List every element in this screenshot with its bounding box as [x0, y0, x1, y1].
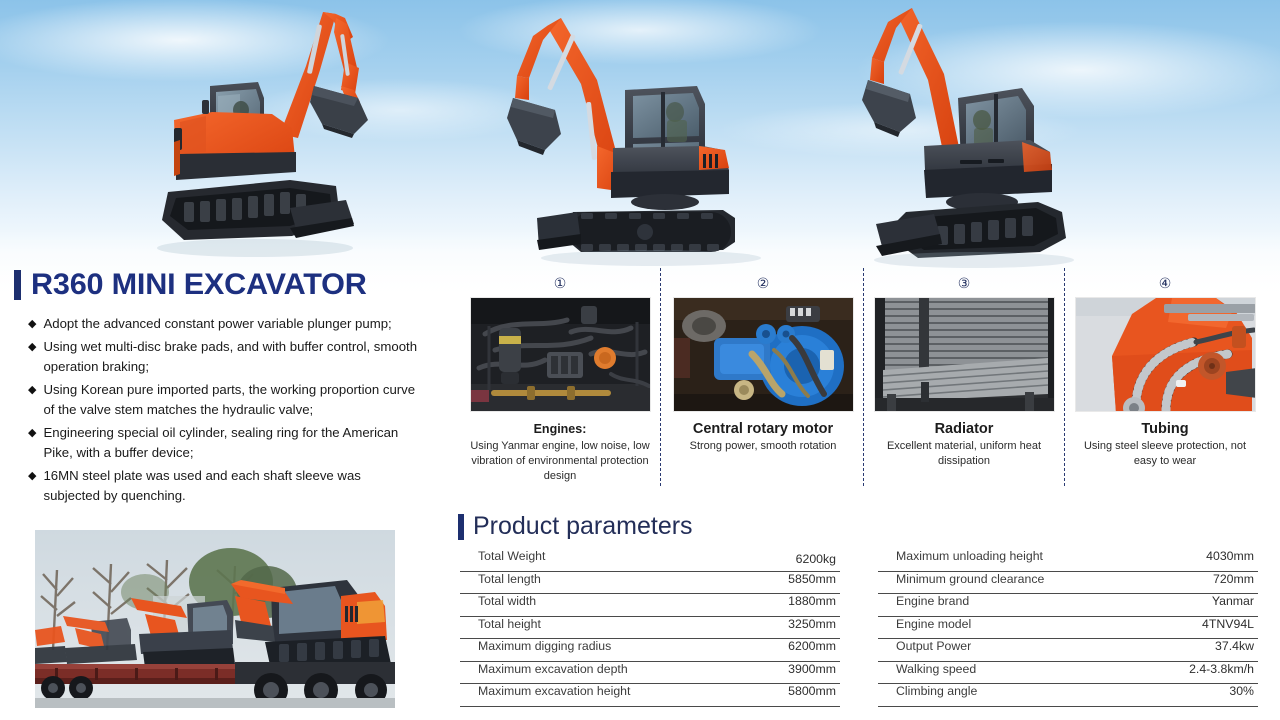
table-row: Total Weight 6200kg: [460, 549, 840, 572]
param-label: Minimum ground clearance: [896, 572, 1044, 586]
engine-closeup-photo: [470, 297, 651, 412]
param-label: Total Weight: [478, 549, 545, 563]
card-title: Radiator: [866, 421, 1062, 437]
excavator-hero-left: [140, 2, 400, 264]
list-item: ◆ Adopt the advanced constant power vari…: [28, 314, 420, 335]
param-value: 5800mm: [788, 684, 836, 698]
component-card-tubing: ④: [1067, 276, 1263, 506]
card-description: Strong power, smooth rotation: [665, 439, 861, 454]
param-label: Total width: [478, 594, 536, 608]
table-row: Maximum unloading height 4030mm: [878, 549, 1258, 572]
list-item: ◆ 16MN steel plate was used and each sha…: [28, 466, 420, 507]
feature-text: Using Korean pure imported parts, the wo…: [43, 380, 420, 421]
param-value: 720mm: [1213, 572, 1254, 586]
param-value: 30%: [1229, 684, 1254, 698]
table-row: Total length 5850mm: [460, 572, 840, 595]
left-column: R360 MINI EXCAVATOR ◆ Adopt the advanced…: [0, 268, 445, 509]
params-accent-bar: [458, 514, 464, 540]
table-row: Maximum digging radius 6200mm: [460, 639, 840, 662]
param-value: 2.4-3.8km/h: [1189, 662, 1254, 676]
component-card-engines: ①: [462, 276, 658, 506]
feature-text: 16MN steel plate was used and each shaft…: [43, 466, 420, 507]
param-label: Walking speed: [896, 662, 976, 676]
card-description: Excellent material, uniform heat dissipa…: [866, 439, 1062, 469]
table-row: Output Power 37.4kw: [878, 639, 1258, 662]
param-value: 1880mm: [788, 594, 836, 608]
table-row: Engine model 4TNV94L: [878, 617, 1258, 640]
param-value: 6200kg: [796, 552, 836, 566]
parameters-table-right: Maximum unloading height 4030mm Minimum …: [878, 549, 1258, 707]
excavator-hero-center: [485, 6, 785, 268]
radiator-photo: [874, 297, 1055, 412]
page-title: R360 MINI EXCAVATOR: [31, 268, 367, 302]
param-value: 4030mm: [1206, 549, 1254, 563]
table-row: Walking speed 2.4-3.8km/h: [878, 662, 1258, 685]
param-label: Maximum excavation depth: [478, 662, 628, 676]
diamond-bullet-icon: ◆: [28, 337, 36, 358]
card-number-badge: ②: [665, 276, 861, 294]
card-divider-3: [1064, 268, 1065, 486]
table-row: Climbing angle 30%: [878, 684, 1258, 707]
card-number-badge: ③: [866, 276, 1062, 294]
excavators-loaded-on-flatbed-truck: [35, 530, 395, 708]
param-value: 4TNV94L: [1202, 617, 1254, 631]
param-label: Maximum unloading height: [896, 549, 1043, 563]
excavator-hero-right: [862, 2, 1112, 268]
table-row: Total width 1880mm: [460, 594, 840, 617]
product-title-row: R360 MINI EXCAVATOR: [0, 268, 445, 302]
list-item: ◆ Engineering special oil cylinder, seal…: [28, 423, 420, 464]
component-card-radiator: ③: [866, 276, 1062, 506]
parameters-table-left: Total Weight 6200kg Total length 5850mm …: [460, 549, 840, 707]
hydraulic-tubing-photo: [1075, 297, 1256, 412]
card-description: Using steel sleeve protection, not easy …: [1067, 439, 1263, 469]
product-parameters-heading-row: Product parameters: [458, 512, 693, 541]
param-label: Engine model: [896, 617, 971, 631]
feature-text: Engineering special oil cylinder, sealin…: [43, 423, 420, 464]
feature-text: Adopt the advanced constant power variab…: [43, 314, 420, 335]
feature-bullet-list: ◆ Adopt the advanced constant power vari…: [0, 314, 420, 507]
card-title: Tubing: [1067, 421, 1263, 437]
card-description: Using Yanmar engine, low noise, low vibr…: [462, 439, 658, 484]
diamond-bullet-icon: ◆: [28, 314, 36, 335]
card-number-badge: ①: [462, 276, 658, 294]
param-label: Engine brand: [896, 594, 969, 608]
param-value: 37.4kw: [1215, 639, 1254, 653]
component-card-central-rotary-motor: ②: [665, 276, 861, 506]
list-item: ◆ Using Korean pure imported parts, the …: [28, 380, 420, 421]
param-value: 6200mm: [788, 639, 836, 653]
card-number-badge: ④: [1067, 276, 1263, 294]
diamond-bullet-icon: ◆: [28, 466, 36, 487]
param-label: Total height: [478, 617, 541, 631]
component-feature-cards: ①: [460, 276, 1270, 506]
card-divider-1: [660, 268, 661, 486]
table-row: Minimum ground clearance 720mm: [878, 572, 1258, 595]
param-label: Total length: [478, 572, 541, 586]
table-row: Maximum excavation depth 3900mm: [460, 662, 840, 685]
param-value: 3250mm: [788, 617, 836, 631]
param-label: Maximum excavation height: [478, 684, 630, 698]
list-item: ◆ Using wet multi-disc brake pads, and w…: [28, 337, 420, 378]
central-rotary-motor-photo: [673, 297, 854, 412]
param-value: 5850mm: [788, 572, 836, 586]
param-value: Yanmar: [1212, 594, 1254, 608]
param-label: Climbing angle: [896, 684, 977, 698]
section-title: Product parameters: [473, 512, 693, 541]
card-title: Central rotary motor: [665, 421, 861, 437]
diamond-bullet-icon: ◆: [28, 423, 36, 444]
feature-text: Using wet multi-disc brake pads, and wit…: [43, 337, 420, 378]
card-title: Engines:: [462, 421, 658, 437]
diamond-bullet-icon: ◆: [28, 380, 36, 401]
table-row: Maximum excavation height 5800mm: [460, 684, 840, 707]
title-accent-bar: [14, 270, 21, 300]
param-label: Output Power: [896, 639, 971, 653]
table-row: Engine brand Yanmar: [878, 594, 1258, 617]
param-value: 3900mm: [788, 662, 836, 676]
table-row: Total height 3250mm: [460, 617, 840, 640]
card-divider-2: [863, 268, 864, 486]
param-label: Maximum digging radius: [478, 639, 611, 653]
